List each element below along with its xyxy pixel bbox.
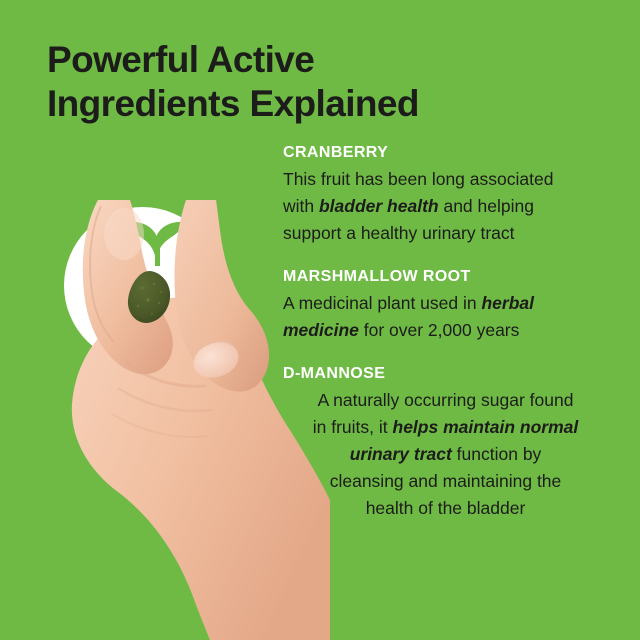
hand-holding-chew: [0, 200, 330, 640]
soft-chew-supplement: [126, 270, 172, 324]
ingredient-d-mannose: D-MANNOSE A naturally occurring sugar fo…: [283, 363, 608, 522]
product-artwork: [0, 0, 330, 640]
ingredient-heading: MARSHMALLOW ROOT: [283, 266, 608, 288]
ingredient-description: A naturally occurring sugar foundin frui…: [283, 387, 608, 522]
ingredient-description: A medicinal plant used in herbalmedicine…: [283, 290, 608, 344]
ingredients-list: CRANBERRY This fruit has been long assoc…: [283, 142, 608, 522]
ingredient-marshmallow-root: MARSHMALLOW ROOT A medicinal plant used …: [283, 266, 608, 344]
ingredients-poster: Powerful Active Ingredients Explained: [0, 0, 640, 640]
ingredient-heading: D-MANNOSE: [283, 363, 608, 385]
ingredient-cranberry: CRANBERRY This fruit has been long assoc…: [283, 142, 608, 247]
ingredient-description: This fruit has been long associatedwith …: [283, 166, 608, 247]
ingredient-heading: CRANBERRY: [283, 142, 608, 164]
